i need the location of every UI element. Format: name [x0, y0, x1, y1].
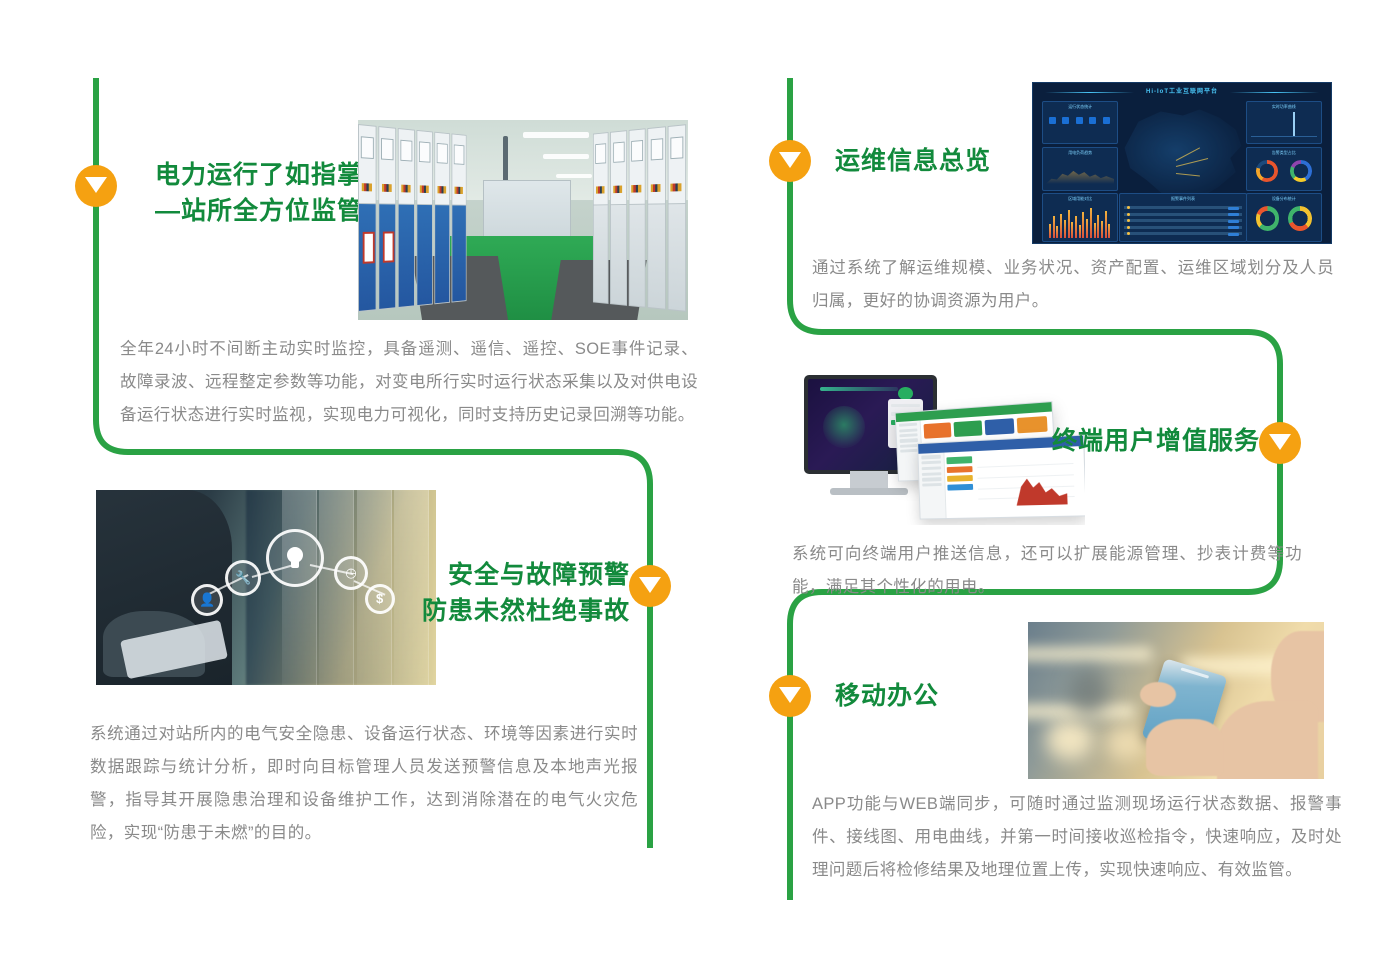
section-heading-safety-warning: 安全与故障预警 防患未然杜绝事故 [330, 557, 630, 629]
ceiling-light [556, 174, 592, 178]
switchgear-cabinet [416, 130, 432, 306]
sidebar-item-power-monitoring[interactable] [75, 165, 117, 207]
section-body-mobile-office: APP功能与WEB端同步，可随时通过监测现场运行状态数据、报警事件、接线图、用电… [812, 788, 1342, 887]
switchgear-cabinet [434, 132, 450, 305]
sidebar-item-ops-overview[interactable] [769, 140, 811, 182]
status-card: 运行状态统计 [1042, 101, 1119, 145]
section-body-ops-overview: 通过系统了解运维规模、业务状况、资产配置、运维区域划分及人员归属，更好的协调资源… [812, 252, 1334, 318]
bar-card: 区域用能对比 [1042, 193, 1119, 241]
dashboard-title: Hi-IoT工业互联网平台 [1033, 86, 1331, 95]
person-icon: 👤 [191, 584, 223, 616]
down-triangle-icon [779, 152, 801, 168]
infographic-canvas: 电力运行了如指掌 —站所全方位监管 全年24小时不间断主动实时监控，具备遥测、遥… [0, 0, 1400, 967]
ceiling-light [523, 132, 589, 138]
donut-card-upper: 告警类型占比 [1246, 147, 1323, 191]
switchgear-cabinet [667, 124, 686, 312]
switchgear-cabinet [593, 132, 609, 304]
switchgear-cabinet [358, 124, 377, 312]
switchgear-cabinet [398, 128, 415, 308]
section-body-power-monitoring: 全年24小时不间断主动实时监控，具备遥测、遥信、遥控、SOE事件记录、故障录波、… [120, 333, 698, 432]
section-body-end-user-value: 系统可向终端用户推送信息，还可以扩展能源管理、抄表计费等功能，满足其个性化的用电… [792, 538, 1302, 604]
switchgear-cabinet [452, 133, 467, 302]
switchgear-room-photo [358, 120, 688, 320]
down-triangle-icon [1269, 434, 1291, 450]
alarm-table-card: 报警事件列表 [1119, 193, 1246, 241]
section-heading-end-user-value: 终端用户增值服务 [960, 423, 1260, 459]
down-triangle-icon [779, 687, 801, 703]
ceiling-light [543, 154, 589, 159]
switchgear-bank-left [358, 124, 468, 312]
sidebar-item-safety-warning[interactable] [629, 565, 671, 607]
down-triangle-icon [85, 177, 107, 193]
switchgear-bank-right [593, 124, 688, 312]
lightbulb-icon [266, 529, 324, 587]
sidebar-item-mobile-office[interactable] [769, 675, 811, 717]
sidebar-item-end-user-value[interactable] [1259, 422, 1301, 464]
down-triangle-icon [639, 577, 661, 593]
monitor-base [830, 488, 908, 494]
monitor-stand [850, 471, 888, 490]
switchgear-cabinet [378, 126, 396, 310]
switchgear-cabinet [647, 126, 665, 309]
iot-dashboard-screenshot: Hi-IoT工业互联网平台 运行状态统计 用电负荷趋势 区域用能对比 [1032, 82, 1332, 244]
spike-chart-card: 实时功率曲线 [1246, 101, 1323, 145]
switchgear-cabinet [610, 130, 627, 306]
phone-in-hands-photo [1028, 622, 1324, 779]
section-body-safety-warning: 系统通过对站所内的电气安全隐患、设备运行状态、环境等因素进行实时数据跟踪与统计分… [90, 718, 638, 850]
switchgear-cabinet [628, 128, 645, 307]
trend-card: 用电负荷趋势 [1042, 147, 1119, 191]
donut-card-lower: 设备分布统计 [1246, 193, 1323, 241]
